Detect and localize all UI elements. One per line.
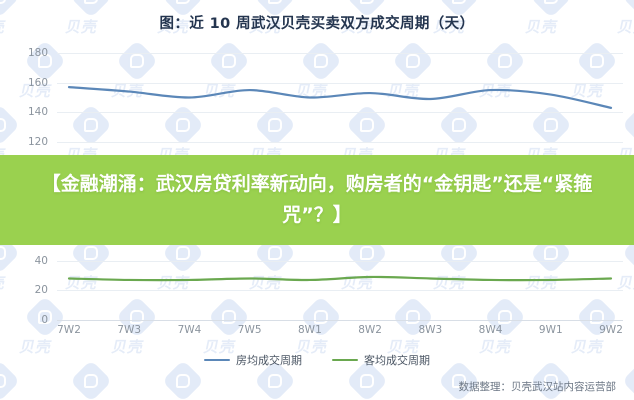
line-swatch-green: [332, 359, 358, 362]
chart-legend: 房均成交周期客均成交周期: [0, 352, 634, 368]
chart-screenshot: 贝壳贝壳贝壳贝壳贝壳贝壳贝壳贝壳贝壳贝壳贝壳贝壳贝壳贝壳贝壳贝壳贝壳贝壳贝壳贝壳…: [0, 0, 634, 400]
legend-item-label: 客均成交周期: [364, 352, 430, 368]
legend-item[interactable]: 客均成交周期: [332, 352, 430, 368]
line-swatch-blue: [204, 359, 230, 362]
headline-banner-text: 【金融潮涌：武汉房贷利率新动向，购房者的“金钥匙”还是“紧箍咒”？】: [27, 169, 607, 231]
headline-banner: 【金融潮涌：武汉房贷利率新动向，购房者的“金钥匙”还是“紧箍咒”？】: [0, 155, 634, 245]
series-line: [69, 87, 611, 108]
legend-item[interactable]: 房均成交周期: [204, 352, 302, 368]
chart-title: 图：近 10 周武汉贝壳买卖双方成交周期（天）: [0, 12, 634, 33]
series-line: [69, 277, 611, 280]
source-note: 数据整理：贝壳武汉站内容运营部: [459, 379, 617, 394]
legend-item-label: 房均成交周期: [236, 352, 302, 368]
